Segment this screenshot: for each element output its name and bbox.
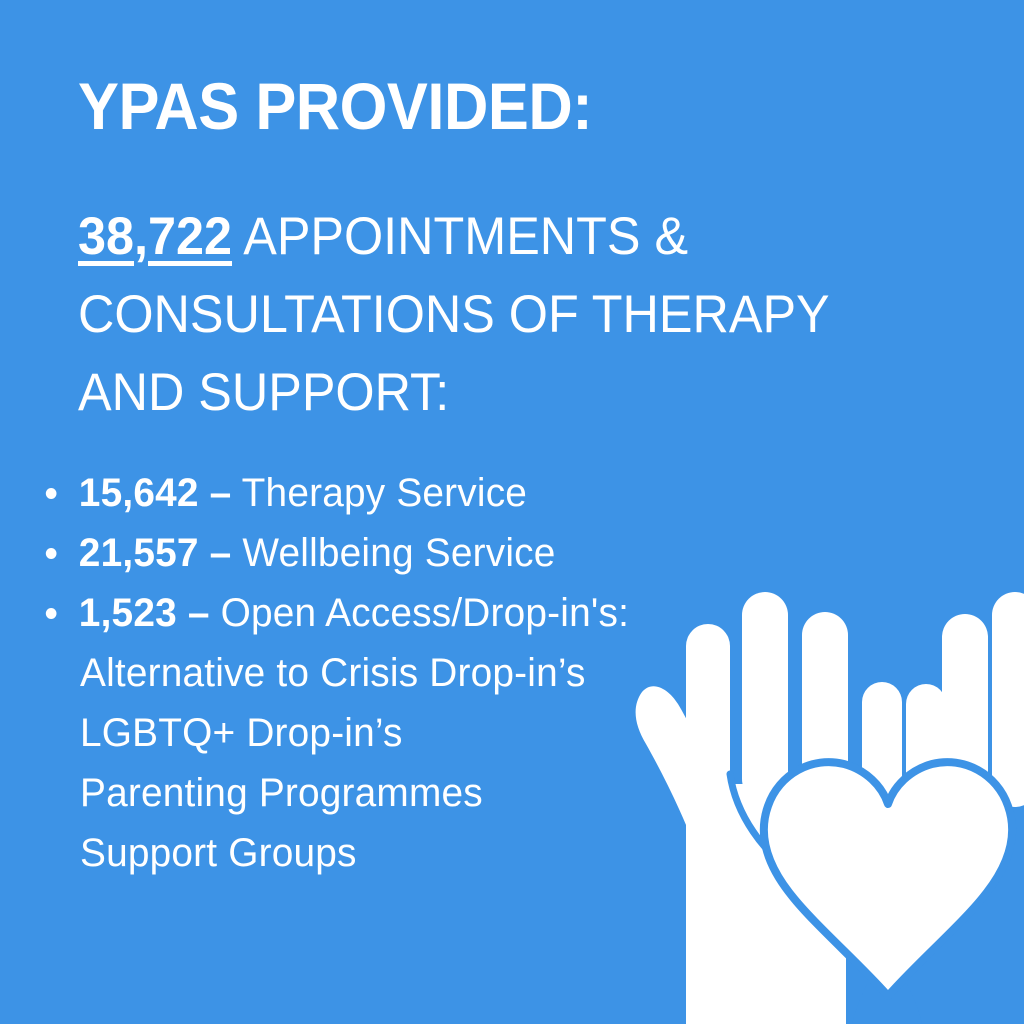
list-item-number: 1,523 – xyxy=(79,591,210,635)
infographic-poster: YPAS PROVIDED: 38,722 APPOINTMENTS & CON… xyxy=(0,0,1024,1024)
headline-figure: 38,722 xyxy=(78,207,232,266)
list-item: 15,642 – Therapy Service xyxy=(40,463,816,523)
statistics-list: 15,642 – Therapy Service 21,557 – Wellbe… xyxy=(40,463,840,643)
page-title: YPAS PROVIDED: xyxy=(78,73,592,139)
headline-figure-part1: 38 xyxy=(78,207,134,266)
list-item: LGBTQ+ Drop-in’s xyxy=(80,703,817,763)
list-item-label: Wellbeing Service xyxy=(231,531,555,575)
poster-content: YPAS PROVIDED: 38,722 APPOINTMENTS & CON… xyxy=(0,0,1024,1024)
list-item-number: 21,557 – xyxy=(79,531,232,575)
bullet-dot-icon xyxy=(46,548,57,559)
headline-figure-comma: , xyxy=(134,207,148,266)
headline-figure-part2: 722 xyxy=(148,207,232,266)
list-item: Support Groups xyxy=(80,823,817,883)
list-item: Alternative to Crisis Drop-in’s xyxy=(80,643,817,703)
headline: 38,722 APPOINTMENTS & CONSULTATIONS OF T… xyxy=(78,198,914,432)
list-item: 21,557 – Wellbeing Service xyxy=(40,523,816,583)
list-item-label: Open Access/Drop-in's: xyxy=(210,591,629,635)
list-item-number: 15,642 – xyxy=(79,471,232,515)
drop-in-services-list: Alternative to Crisis Drop-in’s LGBTQ+ D… xyxy=(80,643,840,883)
list-item-label: Therapy Service xyxy=(231,471,527,515)
bullet-dot-icon xyxy=(46,608,57,619)
list-item: Parenting Programmes xyxy=(80,763,817,823)
bullet-dot-icon xyxy=(46,488,57,499)
list-item: 1,523 – Open Access/Drop-in's: xyxy=(40,583,816,643)
